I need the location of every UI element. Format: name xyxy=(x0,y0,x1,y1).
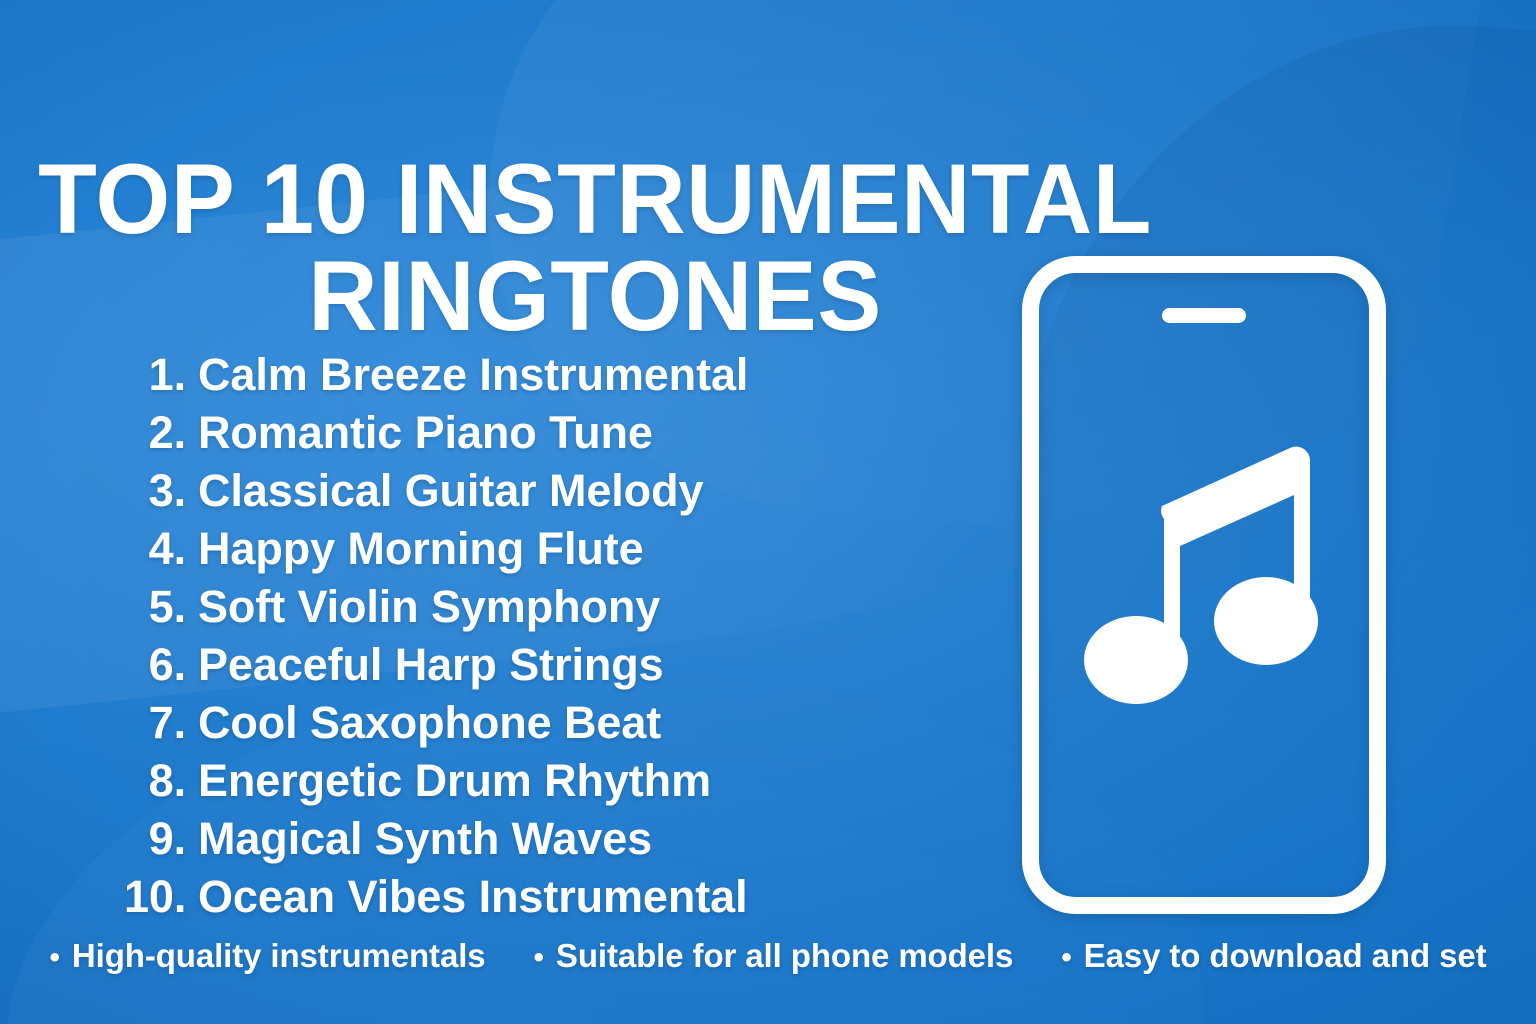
list-item-label: Romantic Piano Tune xyxy=(198,404,653,462)
list-item-number: 4. xyxy=(124,520,186,578)
phone-speaker-icon xyxy=(1162,308,1246,323)
list-item-number: 9. xyxy=(124,810,186,868)
list-item-label: Energetic Drum Rhythm xyxy=(198,752,711,810)
ringtone-poster: TOP 10 INSTRUMENTAL RINGTONES 1. Calm Br… xyxy=(0,0,1536,1024)
page-title-line-1: TOP 10 INSTRUMENTAL xyxy=(18,150,1172,247)
list-item-label: Soft Violin Symphony xyxy=(198,578,660,636)
feature-bullet-label: Suitable for all phone models xyxy=(556,936,1013,976)
feature-bullet-item: • Suitable for all phone models xyxy=(534,936,1014,976)
feature-bullet-label: High-quality instrumentals xyxy=(72,936,486,976)
feature-bullet-label: Easy to download and set xyxy=(1084,936,1487,976)
beamed-eighth-notes-icon xyxy=(1084,418,1328,710)
list-item-label: Magical Synth Waves xyxy=(198,810,652,868)
list-item: 7. Cool Saxophone Beat xyxy=(124,694,764,752)
bullet-icon: • xyxy=(534,943,544,973)
ringtone-list: 1. Calm Breeze Instrumental 2. Romantic … xyxy=(84,346,764,926)
list-item-label: Classical Guitar Melody xyxy=(198,462,703,520)
list-item-label: Peaceful Harp Strings xyxy=(198,636,664,694)
feature-bullet-item: • Easy to download and set xyxy=(1061,936,1486,976)
list-item-number: 2. xyxy=(124,404,186,462)
list-item: 1. Calm Breeze Instrumental xyxy=(124,346,764,404)
page-title: TOP 10 INSTRUMENTAL RINGTONES xyxy=(18,150,1172,344)
list-item-number: 5. xyxy=(124,578,186,636)
list-item-label: Calm Breeze Instrumental xyxy=(198,346,748,404)
list-item: 5. Soft Violin Symphony xyxy=(124,578,764,636)
list-item-number: 3. xyxy=(124,462,186,520)
list-item-number: 8. xyxy=(124,752,186,810)
list-item: 4. Happy Morning Flute xyxy=(124,520,764,578)
list-item-number: 6. xyxy=(124,636,186,694)
list-item: 8. Energetic Drum Rhythm xyxy=(124,752,764,810)
list-item-number: 7. xyxy=(124,694,186,752)
bullet-icon: • xyxy=(50,943,60,973)
list-item: 10. Ocean Vibes Instrumental xyxy=(124,868,764,926)
bullet-icon: • xyxy=(1061,943,1071,973)
list-item-label: Cool Saxophone Beat xyxy=(198,694,661,752)
feature-bullets: • High-quality instrumentals • Suitable … xyxy=(0,936,1536,976)
smartphone-icon xyxy=(1022,256,1386,914)
list-item-label: Happy Morning Flute xyxy=(198,520,644,578)
page-title-line-2: RINGTONES xyxy=(18,247,1172,344)
list-item-number: 1. xyxy=(124,346,186,404)
list-item: 2. Romantic Piano Tune xyxy=(124,404,764,462)
list-item-label: Ocean Vibes Instrumental xyxy=(198,868,747,926)
list-item: 9. Magical Synth Waves xyxy=(124,810,764,868)
list-item: 3. Classical Guitar Melody xyxy=(124,462,764,520)
list-item-number: 10. xyxy=(124,868,186,926)
list-item: 6. Peaceful Harp Strings xyxy=(124,636,764,694)
feature-bullet-item: • High-quality instrumentals xyxy=(50,936,486,976)
